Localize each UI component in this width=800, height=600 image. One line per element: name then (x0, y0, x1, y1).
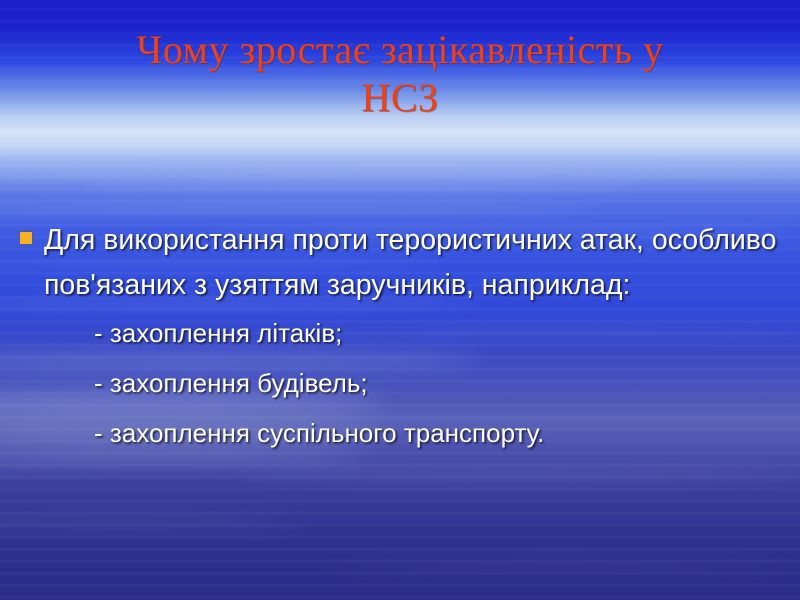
slide-content: Чому зростає зацікавленість у НСЗ Для ви… (0, 0, 800, 600)
sub-item-text: - захоплення суспільного транспорту. (94, 408, 788, 458)
sub-item-text: - захоплення будівель; (94, 358, 788, 408)
bullet-item: Для використання проти терористичних ата… (16, 218, 788, 308)
slide-body: Для використання проти терористичних ата… (16, 218, 788, 458)
presentation-slide: Чому зростає зацікавленість у НСЗ Для ви… (0, 0, 800, 600)
bullet-item-text: Для використання проти терористичних ата… (44, 218, 788, 308)
slide-title: Чому зростає зацікавленість у НСЗ (40, 26, 760, 122)
sub-item-text: - захоплення літаків; (94, 308, 788, 358)
square-bullet-icon (20, 232, 32, 244)
